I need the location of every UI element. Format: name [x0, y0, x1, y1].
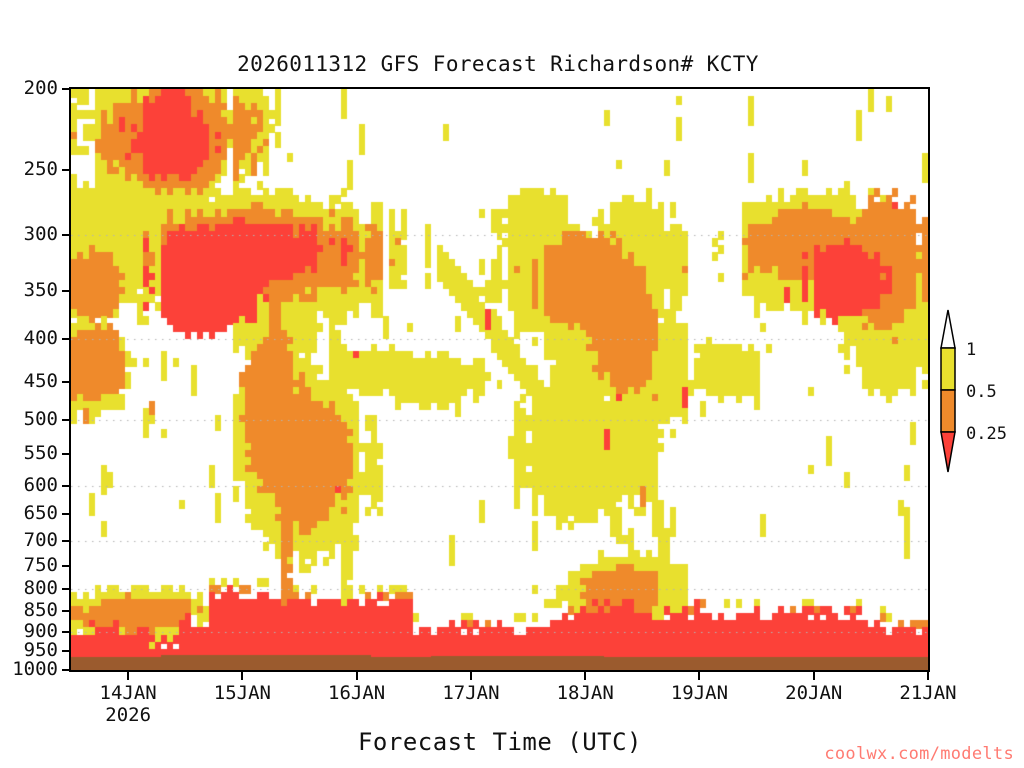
x-tick-mark: [127, 672, 129, 680]
y-tick-mark: [62, 669, 70, 671]
colorbar-legend: 1 0.5 0.25: [934, 300, 1024, 485]
y-tick-mark: [62, 169, 70, 171]
y-tick-label: 200: [24, 79, 58, 98]
y-tick-label: 700: [24, 531, 58, 550]
y-tick-label: 800: [24, 579, 58, 598]
y-tick-mark: [62, 650, 70, 652]
y-tick-mark: [62, 565, 70, 567]
x-tick-label: 15JAN: [214, 682, 271, 704]
plot-area: [69, 87, 930, 672]
y-tick-label: 350: [24, 281, 58, 300]
y-tick-label: 850: [24, 601, 58, 620]
colorbar-label-1: 1: [966, 342, 976, 359]
y-tick-mark: [62, 453, 70, 455]
y-tick-mark: [62, 588, 70, 590]
x-tick-mark: [470, 672, 472, 680]
colorbar-over-arrow: [941, 310, 955, 348]
x-tick-label: 17JAN: [442, 682, 499, 704]
watermark: coolwx.com/modelts: [824, 744, 1014, 764]
richardson-heatmap: [71, 89, 928, 670]
x-tick-label: 20JAN: [785, 682, 842, 704]
y-tick-mark: [62, 290, 70, 292]
colorbar-band-high: [941, 348, 955, 390]
page-title: 2026011312 GFS Forecast Richardson# KCTY: [0, 52, 1024, 76]
y-tick-label: 400: [24, 329, 58, 348]
y-tick-label: 750: [24, 556, 58, 575]
y-tick-label: 600: [24, 476, 58, 495]
y-tick-label: 900: [24, 622, 58, 641]
x-tick-mark: [241, 672, 243, 680]
y-axis: 2002503003504004505005506006507007508008…: [0, 87, 70, 672]
x-tick-mark: [813, 672, 815, 680]
x-tick-label: 18JAN: [557, 682, 614, 704]
colorbar-label-0-5: 0.5: [966, 384, 997, 401]
x-tick-mark: [698, 672, 700, 680]
y-tick-mark: [62, 540, 70, 542]
y-tick-mark: [62, 381, 70, 383]
x-tick-label: 19JAN: [671, 682, 728, 704]
colorbar-label-0-25: 0.25: [966, 426, 1007, 443]
chart-root: 2026011312 GFS Forecast Richardson# KCTY…: [0, 0, 1024, 768]
x-axis-title-text: Forecast Time (UTC): [358, 728, 642, 756]
y-tick-label: 250: [24, 160, 58, 179]
y-tick-mark: [62, 419, 70, 421]
chart-title-text: 2026011312 GFS Forecast Richardson# KCTY: [237, 52, 759, 76]
x-tick-mark: [584, 672, 586, 680]
colorbar-band-mid: [941, 390, 955, 432]
colorbar-under-arrow: [941, 432, 955, 472]
y-tick-mark: [62, 513, 70, 515]
x-tick-label: 21JAN: [899, 682, 956, 704]
x-tick-mark: [927, 672, 929, 680]
y-tick-label: 300: [24, 225, 58, 244]
y-tick-label: 650: [24, 504, 58, 523]
y-tick-label: 500: [24, 410, 58, 429]
y-tick-mark: [62, 631, 70, 633]
y-tick-mark: [62, 610, 70, 612]
y-tick-label: 450: [24, 372, 58, 391]
x-tick-label: 16JAN: [328, 682, 385, 704]
x-tick-mark: [356, 672, 358, 680]
y-tick-mark: [62, 234, 70, 236]
x-tick-label: 14JAN: [100, 682, 157, 704]
y-tick-label: 550: [24, 444, 58, 463]
y-tick-mark: [62, 338, 70, 340]
y-tick-mark: [62, 485, 70, 487]
y-tick-mark: [62, 88, 70, 90]
x-tick-year-label: 2026: [105, 704, 151, 726]
